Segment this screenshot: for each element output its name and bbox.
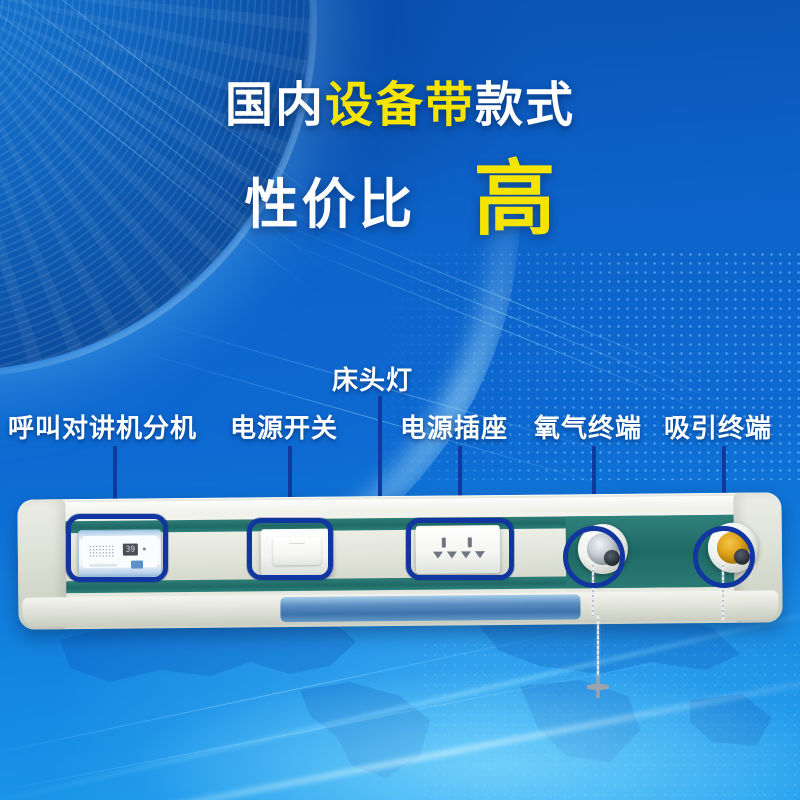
headline-line-2: 性价比 高 xyxy=(0,160,800,239)
pull-chain-drop[interactable] xyxy=(597,616,599,680)
halftone-dots-icon xyxy=(380,250,800,480)
highlight-circle-suction xyxy=(693,526,755,588)
headline-value-text: 性价比 xyxy=(244,160,415,239)
callout-label-light: 床头灯 xyxy=(332,360,413,397)
panel-lip-reflection xyxy=(280,594,580,622)
highlight-circle-oxygen xyxy=(563,526,625,588)
headline-accent-text: 高 xyxy=(473,161,555,239)
highlight-box-socket xyxy=(406,518,514,580)
callout-label-intercom: 呼叫对讲机分机 xyxy=(8,408,197,445)
callout-label-socket: 电源插座 xyxy=(400,408,508,445)
callout-label-switch: 电源开关 xyxy=(230,408,338,445)
highlight-box-switch xyxy=(247,518,333,580)
highlight-box-intercom xyxy=(66,514,168,582)
callout-label-suction: 吸引终端 xyxy=(664,408,772,445)
poster-canvas: 国内设备带款式 性价比 高 呼叫对讲机分机 床头灯 电源开关 电源插座 氧气终端… xyxy=(0,0,800,800)
callout-label-oxygen: 氧气终端 xyxy=(534,408,642,445)
